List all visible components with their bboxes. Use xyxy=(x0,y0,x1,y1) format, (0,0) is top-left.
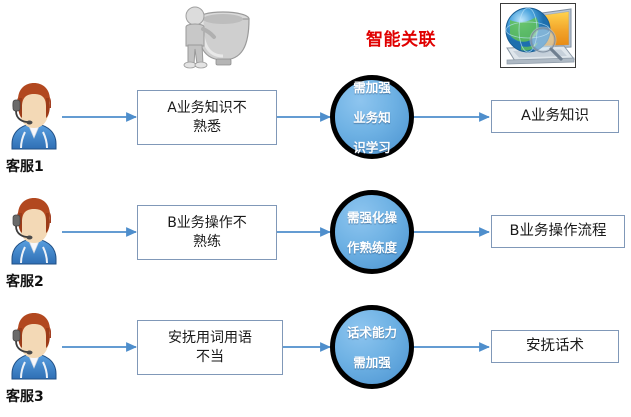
issue-box: A业务知识不 熟悉 xyxy=(137,90,277,145)
result-box: B业务操作流程 xyxy=(491,215,625,248)
cause-line: 业务知 xyxy=(348,110,396,125)
issue-line: B业务操作不 xyxy=(167,215,247,231)
headset-agent-icon xyxy=(6,193,62,269)
page-title: 智能关联 xyxy=(341,25,461,50)
diagram-canvas: 客服1 A业务知识不 熟悉 需加强 业务知 识学习 A业务知识 xyxy=(0,0,631,417)
cause-circle: 话术能力 需加强 xyxy=(330,305,414,389)
cause-circle: 需加强 业务知 识学习 xyxy=(330,75,414,159)
issue-line: 熟悉 xyxy=(193,119,221,135)
cause-line: 识学习 xyxy=(348,140,396,155)
issue-line: 不当 xyxy=(196,349,224,365)
agent-label: 客服3 xyxy=(6,386,68,406)
result-box: 安抚话术 xyxy=(491,330,619,363)
headset-agent-icon xyxy=(6,78,62,154)
issue-line: A业务知识不 xyxy=(167,100,247,116)
issue-line: 安抚用词用语 xyxy=(168,330,252,346)
cause-circle: 需强化操 作熟练度 xyxy=(330,190,414,274)
person-with-bucket-icon xyxy=(170,2,262,70)
headset-agent-icon xyxy=(6,308,62,384)
result-box: A业务知识 xyxy=(491,100,619,133)
cause-line: 作熟练度 xyxy=(342,240,402,255)
cause-line: 需加强 xyxy=(342,355,402,370)
issue-box: B业务操作不 熟练 xyxy=(137,205,277,260)
cause-line: 话术能力 xyxy=(342,325,402,340)
agent-label: 客服2 xyxy=(6,271,68,291)
globe-magnifier-laptop-icon xyxy=(500,3,576,68)
agent-label: 客服1 xyxy=(6,156,68,176)
cause-line: 需加强 xyxy=(348,80,396,95)
cause-line: 需强化操 xyxy=(342,210,402,225)
issue-box: 安抚用词用语 不当 xyxy=(137,320,283,375)
issue-line: 熟练 xyxy=(193,234,221,250)
